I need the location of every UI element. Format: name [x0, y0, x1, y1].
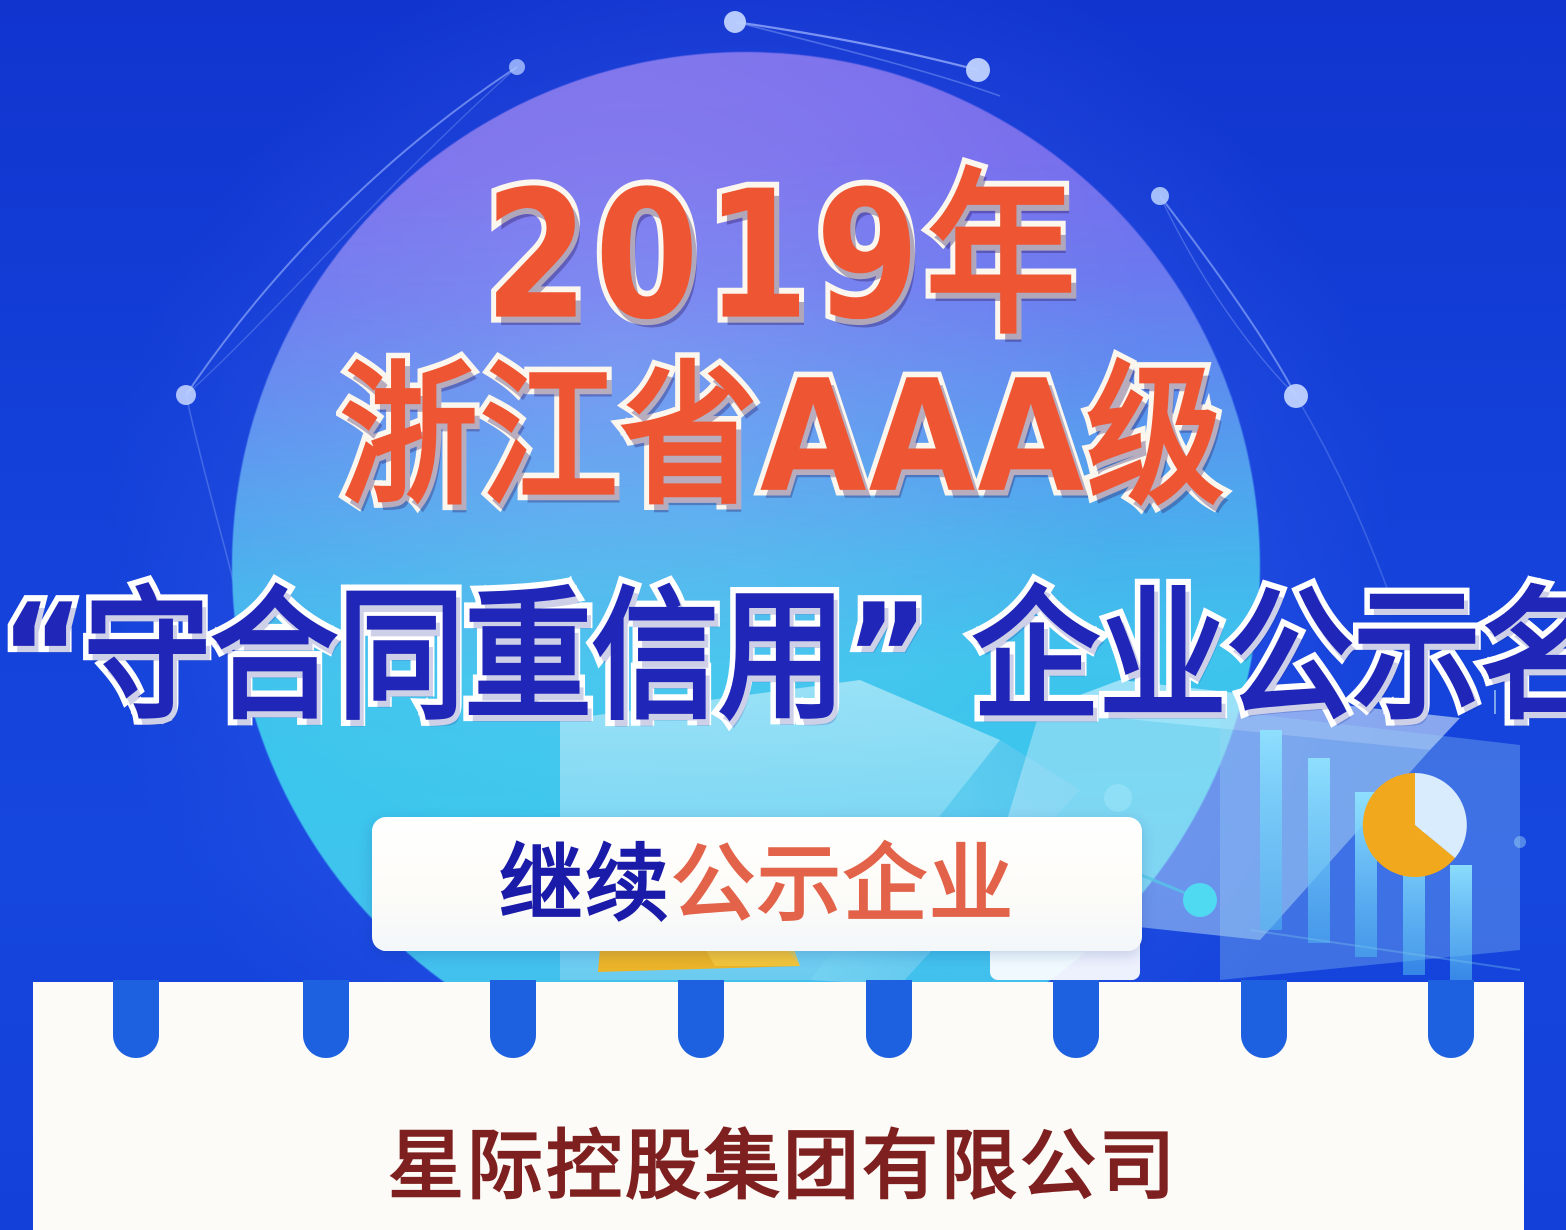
card-notch [490, 980, 536, 1058]
title-main-list: “守合同重信用” 企业公示名单 [0, 586, 1566, 729]
banner-text-group: 继续公示企业 [499, 842, 1015, 926]
card-notch [866, 980, 912, 1058]
title-province-grade: 浙江省AAA级 [0, 360, 1566, 515]
card-notch [1053, 980, 1099, 1058]
company-name: 星际控股集团有限公司 [0, 1128, 1566, 1204]
card-notch [303, 980, 349, 1058]
card-notch [1241, 980, 1287, 1058]
subtitle-banner: 继续公示企业 [372, 817, 1142, 951]
banner-prefix: 继续 [499, 835, 671, 933]
card-notch [678, 980, 724, 1058]
banner-suffix: 公示企业 [671, 835, 1015, 933]
card-notch [1428, 980, 1474, 1058]
card-notch [113, 980, 159, 1058]
poster-root: 2019年 浙江省AAA级 “守合同重信用” 企业公示名单 继续公示企业 星际控… [0, 0, 1566, 1230]
title-year: 2019年 [0, 168, 1566, 345]
